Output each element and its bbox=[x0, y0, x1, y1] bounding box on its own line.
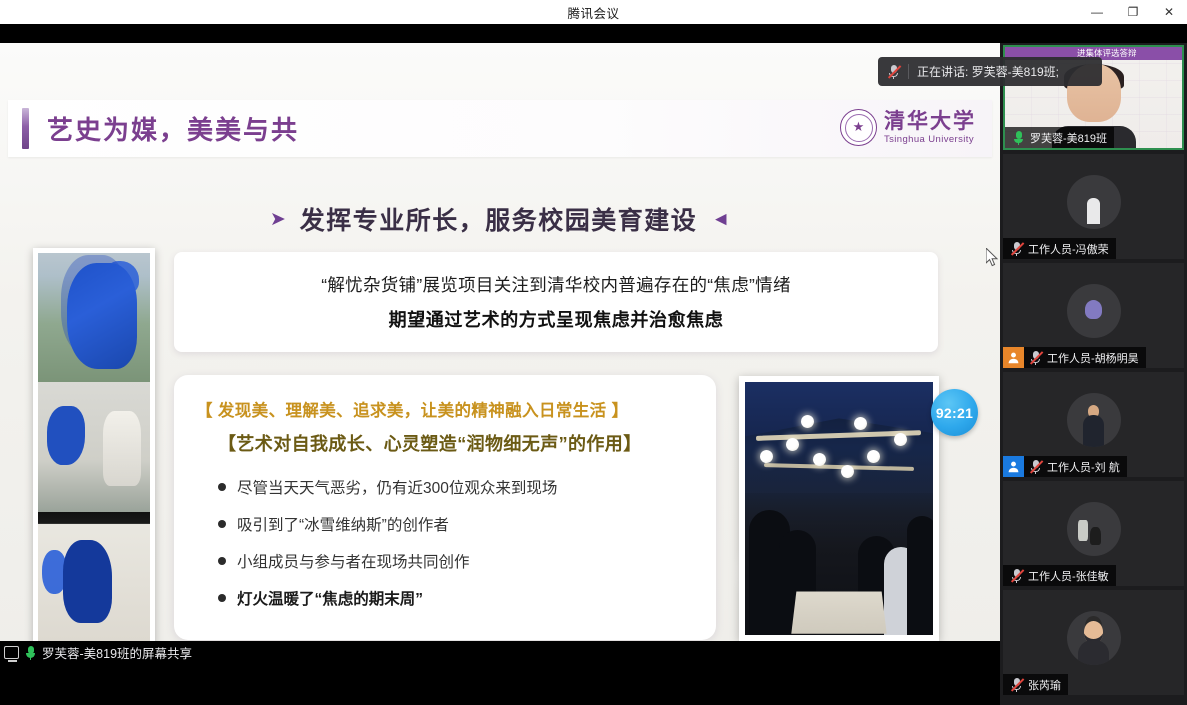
list-item: 尽管当天天气恶劣，仍有近300位观众来到现场 bbox=[218, 476, 694, 498]
participant-name: 张芮瑜 bbox=[1028, 677, 1061, 693]
timer-badge: 92:21 bbox=[931, 389, 978, 436]
slide-header-title: 艺史为媒，美美与共 bbox=[47, 110, 299, 147]
active-speaker-tooltip: 正在讲话: 罗芙蓉-美819班; bbox=[878, 57, 1102, 86]
list-item: 小组成员与参与者在现场共同创作 bbox=[218, 550, 694, 572]
participant-name-bar: 罗芙蓉-美819班 bbox=[1005, 127, 1114, 148]
host-badge-icon bbox=[1003, 347, 1024, 368]
participant-tile[interactable]: 张芮瑜 bbox=[1003, 590, 1184, 695]
tooltip-divider bbox=[908, 64, 909, 79]
screen-share-icon bbox=[4, 646, 19, 659]
list-item: 灯火温暖了“焦虑的期末周” bbox=[218, 587, 694, 609]
avatar bbox=[1067, 175, 1121, 229]
mic-muted-icon bbox=[887, 64, 900, 79]
mic-on-icon bbox=[24, 645, 37, 660]
maximize-button[interactable]: ❐ bbox=[1115, 0, 1151, 24]
participant-rail[interactable]: 进集体评选答辩 罗芙蓉-美819班 工作人员- bbox=[1000, 43, 1187, 705]
close-button[interactable]: ✕ bbox=[1151, 0, 1187, 24]
participant-name-bar: 工作人员-冯傲荣 bbox=[1003, 238, 1116, 259]
participant-name: 工作人员-胡杨明昊 bbox=[1047, 350, 1139, 366]
mic-muted-icon bbox=[1010, 241, 1023, 256]
slide-section-title: ➤ 发挥专业所长，服务校园美育建设 ◄ bbox=[0, 201, 1000, 237]
section-title-text: 发挥专业所长，服务校园美育建设 bbox=[300, 201, 698, 237]
bullet-text: 吸引到了“冰雪维纳斯”的创作者 bbox=[237, 513, 449, 535]
minimize-button[interactable]: — bbox=[1079, 0, 1115, 24]
screen-share-status-bar: 罗芙蓉-美819班的屏幕共享 bbox=[0, 641, 1000, 663]
photo-painting-wall-2 bbox=[38, 382, 150, 511]
participant-tile[interactable]: 工作人员-胡杨明昊 bbox=[1003, 263, 1184, 368]
slide-header: 艺史为媒，美美与共 清华大学 Tsinghua University bbox=[8, 100, 992, 157]
app-title: 腾讯会议 bbox=[567, 3, 619, 22]
mouse-cursor-icon bbox=[986, 248, 999, 267]
statement-line-1: “解忧杂货铺”展览项目关注到清华校内普遍存在的“焦虑”情绪 bbox=[321, 272, 791, 297]
participant-name-bar: 工作人员-张佳敏 bbox=[1003, 565, 1116, 586]
host-badge-icon bbox=[1003, 456, 1024, 477]
bullets-card: 【 发现美、理解美、追求美，让美的精神融入日常生活 】 【艺术对自我成长、心灵塑… bbox=[174, 375, 716, 640]
tsinghua-logo-text: 清华大学 Tsinghua University bbox=[884, 111, 976, 145]
window-title-bar: 腾讯会议 — ❐ ✕ bbox=[0, 0, 1187, 24]
tsinghua-name-en: Tsinghua University bbox=[884, 135, 974, 145]
participant-tile[interactable]: 工作人员-张佳敏 bbox=[1003, 481, 1184, 586]
bullets-heading-1: 【 发现美、理解美、追求美，让美的精神融入日常生活 】 bbox=[196, 397, 694, 421]
bullet-dot-icon bbox=[218, 520, 226, 528]
window-controls: — ❐ ✕ bbox=[1079, 0, 1187, 24]
app-body: 艺史为媒，美美与共 清华大学 Tsinghua University ➤ 发挥专… bbox=[0, 24, 1187, 705]
right-photo bbox=[739, 376, 939, 641]
tsinghua-name-cn: 清华大学 bbox=[884, 111, 976, 132]
avatar bbox=[1067, 393, 1121, 447]
list-item: 吸引到了“冰雪维纳斯”的创作者 bbox=[218, 513, 694, 535]
mic-muted-icon bbox=[1010, 677, 1023, 692]
bullets-heading-2: 【艺术对自我成长、心灵塑造“润物细无声”的作用】 bbox=[218, 430, 694, 456]
photo-canopy bbox=[745, 382, 933, 473]
bullets-list: 尽管当天天气恶劣，仍有近300位观众来到现场 吸引到了“冰雪维纳斯”的创作者 小… bbox=[218, 476, 694, 609]
arrow-left-icon: ◄ bbox=[711, 210, 730, 229]
photo-painting-wall-3 bbox=[38, 512, 150, 641]
photo-beam-2 bbox=[764, 464, 914, 472]
bullet-dot-icon bbox=[218, 594, 226, 602]
mic-muted-icon bbox=[1029, 459, 1042, 474]
tsinghua-seal-icon bbox=[840, 109, 877, 146]
participant-name-bar: 张芮瑜 bbox=[1003, 674, 1068, 695]
mic-muted-icon bbox=[1029, 350, 1042, 365]
participant-name: 罗芙蓉-美819班 bbox=[1030, 130, 1107, 146]
statement-line-2: 期望通过艺术的方式呈现焦虑并治愈焦虑 bbox=[389, 306, 724, 332]
participant-name: 工作人员-冯傲荣 bbox=[1028, 241, 1109, 257]
photo-night-market bbox=[745, 382, 933, 635]
photo-painting-wall-1 bbox=[38, 253, 150, 382]
bullet-text: 小组成员与参与者在现场共同创作 bbox=[237, 550, 470, 572]
participant-tile[interactable]: 工作人员-冯傲荣 bbox=[1003, 154, 1184, 259]
screen-share-status-text: 罗芙蓉-美819班的屏幕共享 bbox=[42, 643, 192, 662]
left-photo-strip bbox=[33, 248, 155, 646]
statement-card: “解忧杂货铺”展览项目关注到清华校内普遍存在的“焦虑”情绪 期望通过艺术的方式呈… bbox=[174, 252, 938, 352]
participant-name-bar: 工作人员-胡杨明昊 bbox=[1003, 347, 1146, 368]
shared-screen-area[interactable]: 艺史为媒，美美与共 清华大学 Tsinghua University ➤ 发挥专… bbox=[0, 43, 1000, 663]
avatar bbox=[1067, 611, 1121, 665]
avatar bbox=[1067, 284, 1121, 338]
arrow-right-icon: ➤ bbox=[270, 210, 286, 229]
header-accent-bar bbox=[22, 108, 29, 149]
bullet-text: 尽管当天天气恶劣，仍有近300位观众来到现场 bbox=[237, 476, 557, 498]
active-speaker-text: 正在讲话: 罗芙蓉-美819班; bbox=[917, 63, 1059, 80]
participant-tile[interactable]: 工作人员-刘 航 bbox=[1003, 372, 1184, 477]
photo-table bbox=[791, 591, 887, 633]
participant-name: 工作人员-刘 航 bbox=[1047, 459, 1120, 475]
tsinghua-logo: 清华大学 Tsinghua University bbox=[840, 109, 976, 146]
mic-muted-icon bbox=[1010, 568, 1023, 583]
bullet-text: 灯火温暖了“焦虑的期末周” bbox=[237, 587, 423, 609]
participant-name-bar: 工作人员-刘 航 bbox=[1003, 456, 1127, 477]
bullet-dot-icon bbox=[218, 483, 226, 491]
bullet-dot-icon bbox=[218, 557, 226, 565]
mic-on-icon bbox=[1012, 130, 1025, 145]
presentation-slide: 艺史为媒，美美与共 清华大学 Tsinghua University ➤ 发挥专… bbox=[0, 43, 1000, 663]
avatar bbox=[1067, 502, 1121, 556]
participant-name: 工作人员-张佳敏 bbox=[1028, 568, 1109, 584]
photo-crowd bbox=[745, 493, 933, 635]
